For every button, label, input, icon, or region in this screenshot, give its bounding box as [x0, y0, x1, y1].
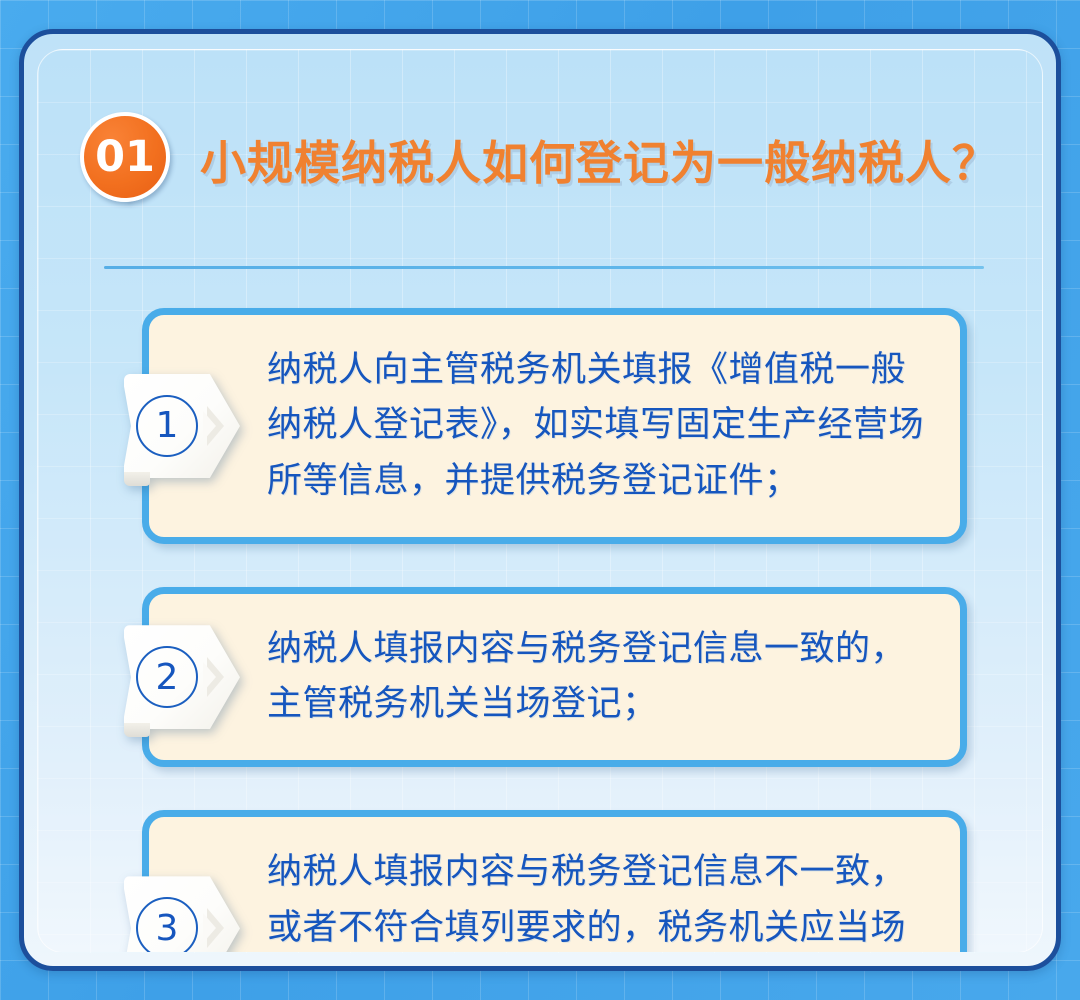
step-text: 纳税人向主管税务机关填报《增值税一般 纳税人登记表》，如实填写固定生产经营场 所… — [267, 343, 924, 509]
list-item: 纳税人填报内容与税务登记信息不一致， 或者不符合填列要求的，税务机关应当场 告知… — [142, 810, 967, 953]
chevron-right-icon — [207, 406, 224, 446]
info-card-inner-panel: 01 小规模纳税人如何登记为一般纳税人？ 纳税人向主管税务机关填报《增值税一般 … — [37, 49, 1043, 953]
step-marker-1: 1 — [124, 374, 240, 478]
step-marker-2: 2 — [124, 625, 240, 729]
step-text: 纳税人填报内容与税务登记信息不一致， 或者不符合填列要求的，税务机关应当场 告知… — [267, 845, 906, 953]
step-marker-3: 3 — [124, 876, 240, 953]
step-box: 纳税人填报内容与税务登记信息一致的， 主管税务机关当场登记； — [142, 587, 967, 768]
chevron-right-icon — [207, 657, 224, 697]
step-number-label: 3 — [136, 897, 198, 953]
page-title: 小规模纳税人如何登记为一般纳税人？ — [200, 127, 999, 193]
header-divider — [104, 266, 984, 269]
section-number-label: 01 — [80, 112, 170, 202]
step-box: 纳税人填报内容与税务登记信息不一致， 或者不符合填列要求的，税务机关应当场 告知… — [142, 810, 967, 953]
card-header: 01 小规模纳税人如何登记为一般纳税人？ — [80, 110, 1002, 210]
marker-fold-icon — [124, 723, 150, 737]
chevron-right-icon — [207, 908, 224, 948]
step-text: 纳税人填报内容与税务登记信息一致的， 主管税务机关当场登记； — [267, 622, 906, 733]
list-item: 纳税人向主管税务机关填报《增值税一般 纳税人登记表》，如实填写固定生产经营场 所… — [142, 308, 967, 544]
steps-list: 纳税人向主管税务机关填报《增值税一般 纳税人登记表》，如实填写固定生产经营场 所… — [142, 308, 967, 912]
info-card: 01 小规模纳税人如何登记为一般纳税人？ 纳税人向主管税务机关填报《增值税一般 … — [19, 29, 1061, 971]
section-number-badge: 01 — [80, 112, 176, 208]
step-number-label: 2 — [136, 646, 198, 708]
page-background: 01 小规模纳税人如何登记为一般纳税人？ 纳税人向主管税务机关填报《增值税一般 … — [0, 0, 1080, 1000]
marker-fold-icon — [124, 472, 150, 486]
step-number-label: 1 — [136, 395, 198, 457]
list-item: 纳税人填报内容与税务登记信息一致的， 主管税务机关当场登记； 2 — [142, 587, 967, 768]
step-box: 纳税人向主管税务机关填报《增值税一般 纳税人登记表》，如实填写固定生产经营场 所… — [142, 308, 967, 544]
